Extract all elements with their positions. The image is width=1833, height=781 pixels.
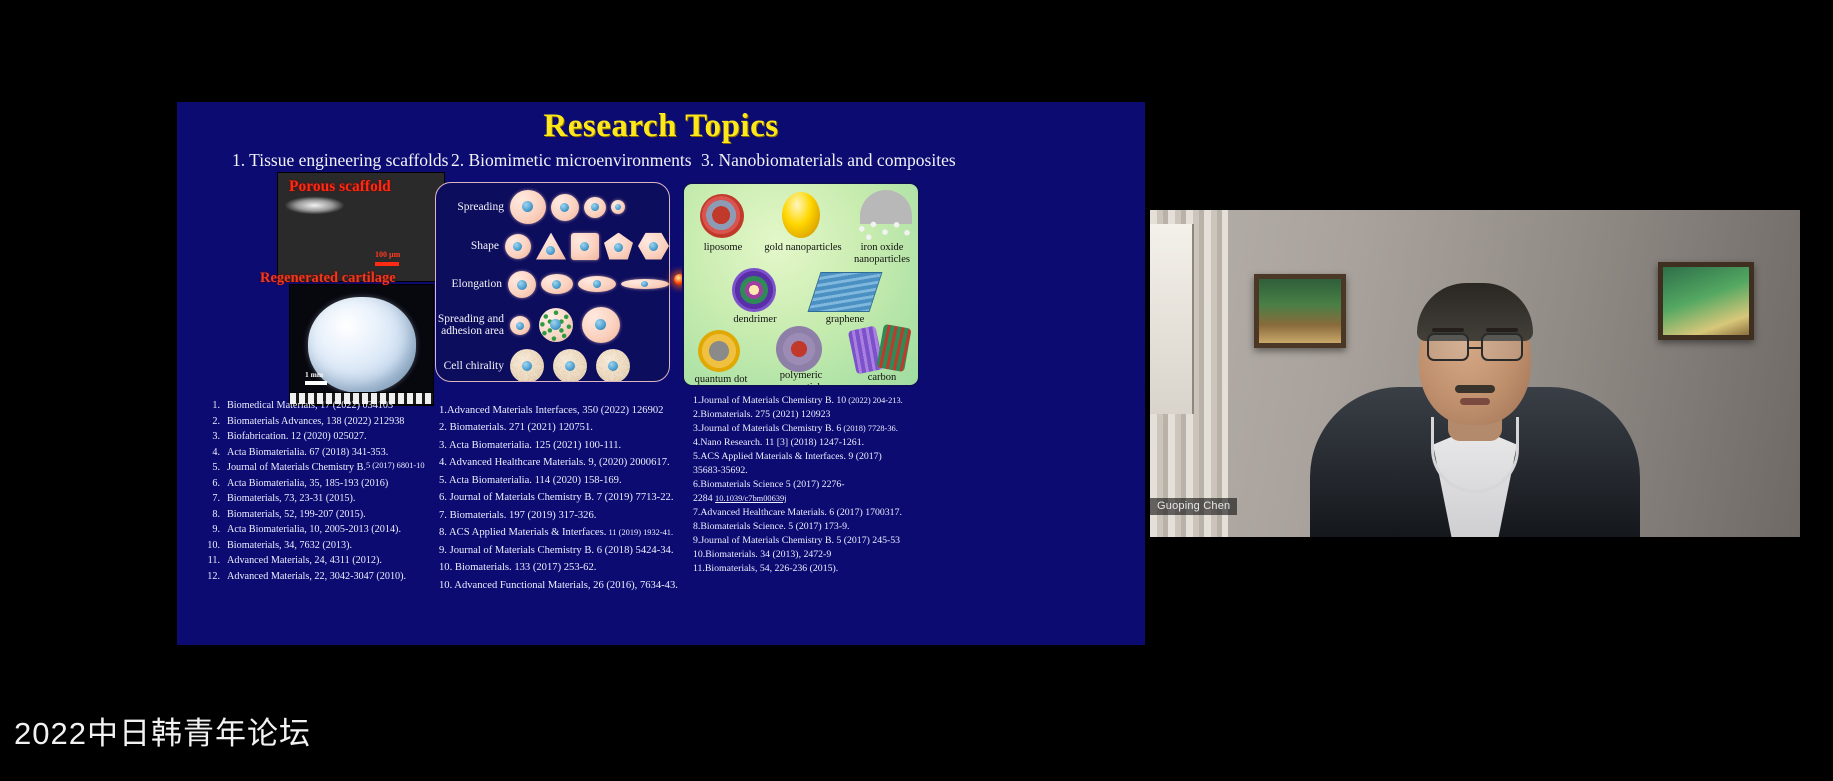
label-polymeric-nanoparticles: polymeric nanoparticles xyxy=(764,370,838,387)
label-liposome: liposome xyxy=(690,242,756,254)
reference-item: 8.Biomaterials, 52, 199-207 (2015). xyxy=(203,507,425,523)
reference-item: 8.Biomaterials Science. 5 (2017) 173-9. xyxy=(693,520,903,534)
porous-scaffold-label: Porous scaffold xyxy=(289,178,391,196)
wall-picture-left xyxy=(1254,274,1346,348)
reference-item: 7.Biomaterials, 73, 23-31 (2015). xyxy=(203,491,425,507)
participant-moustache xyxy=(1455,385,1495,393)
reference-item: 10. Advanced Functional Materials, 26 (2… xyxy=(439,577,678,594)
wall-picture-right xyxy=(1658,262,1754,340)
reference-item: 2284 10.1039/c7bm00639j xyxy=(693,492,903,506)
reference-item: 11.Advanced Materials, 24, 4311 (2012). xyxy=(203,553,425,569)
polymeric-nanoparticles-icon xyxy=(776,326,822,372)
reference-item: 35683-35692. xyxy=(693,464,903,478)
reference-item: 7. Biomaterials. 197 (2019) 317-326. xyxy=(439,507,678,524)
column-heading-scaffolds: 1. Tissue engineering scaffolds xyxy=(232,150,448,171)
liposome-icon xyxy=(700,194,744,238)
forum-caption: 2022中日韩青年论坛 xyxy=(14,708,311,753)
sem-scale-bar xyxy=(375,262,399,266)
label-carbon-nanotubes: carbon nanotubes xyxy=(846,372,918,387)
reference-item: 3.Journal of Materials Chemistry B. 6 (2… xyxy=(693,422,903,436)
reference-item: 6. Journal of Materials Chemistry B. 7 (… xyxy=(439,489,678,506)
reference-item: 3. Acta Biomaterialia. 125 (2021) 100-11… xyxy=(439,437,678,454)
reference-item: 10. Biomaterials. 133 (2017) 253-62. xyxy=(439,559,678,576)
row-label-shape: Shape xyxy=(436,240,505,252)
reference-list-column3: 1.Journal of Materials Chemistry B. 10 (… xyxy=(693,394,903,576)
sem-scale-label: 100 µm xyxy=(375,250,400,259)
reference-item: 6.Acta Biomaterialia, 35, 185-193 (2016) xyxy=(203,476,425,492)
page-title: Research Topics xyxy=(177,108,1145,145)
reference-item: 1.Biomedical Materials, 17 (2022) 034103 xyxy=(203,398,425,414)
reference-item: 7.Advanced Healthcare Materials. 6 (2017… xyxy=(693,506,903,520)
nanomaterials-panel: liposome gold nanoparticles iron oxide n… xyxy=(682,182,920,387)
glasses-lens-left xyxy=(1427,333,1469,361)
shared-slide[interactable]: Research Topics 1. Tissue engineering sc… xyxy=(177,102,1145,645)
regenerated-cartilage-label: Regenerated cartilage xyxy=(260,270,396,287)
cartilage-scale-label: 1 mm xyxy=(305,370,323,379)
reference-item: 4. Advanced Healthcare Materials. 9, (20… xyxy=(439,454,678,471)
window-frame xyxy=(1150,224,1194,414)
reference-item: 5. Acta Biomaterialia. 114 (2020) 158-16… xyxy=(439,472,678,489)
column-heading-nanobiomaterials: 3. Nanobiomaterials and composites xyxy=(701,150,956,171)
regenerated-cartilage-image xyxy=(289,284,434,406)
cartilage-blob xyxy=(308,297,416,393)
reference-item: 11.Biomaterials, 54, 226-236 (2015). xyxy=(693,562,903,576)
reference-item: 2.Biomaterials. 275 (2021) 120923 xyxy=(693,408,903,422)
reference-list-column2: 1.Advanced Materials Interfaces, 350 (20… xyxy=(439,402,678,594)
reference-item: 3.Biofabrication. 12 (2020) 025027. xyxy=(203,429,425,445)
reference-item: 5.ACS Applied Materials & Interfaces. 9 … xyxy=(693,450,903,464)
graphene-icon xyxy=(808,272,883,312)
reference-item: 9.Acta Biomaterialia, 10, 2005-2013 (201… xyxy=(203,522,425,538)
reference-item: 4.Nano Research. 11 [3] (2018) 1247-1261… xyxy=(693,436,903,450)
gold-nanoparticle-icon xyxy=(782,192,820,238)
reference-item: 1.Advanced Materials Interfaces, 350 (20… xyxy=(439,402,678,419)
reference-item: 8. ACS Applied Materials & Interfaces. 1… xyxy=(439,524,678,541)
participant-brow-right xyxy=(1486,328,1518,332)
iron-oxide-particles-icon xyxy=(856,220,914,242)
carbon-nanotubes-icon-2 xyxy=(876,324,911,372)
cartilage-scale-bar xyxy=(305,381,327,385)
label-quantum-dot: quantum dot xyxy=(686,374,756,386)
row-label-elongation: Elongation xyxy=(436,278,508,290)
biomimetic-microenvironment-panel: Spreading Shape Elongation xyxy=(435,182,670,382)
glasses-bridge xyxy=(1469,347,1481,350)
participant-mouth xyxy=(1460,398,1490,405)
label-graphene: graphene xyxy=(810,314,880,326)
reference-item: 10.Biomaterials, 34, 7632 (2013). xyxy=(203,538,425,554)
quantum-dot-icon xyxy=(698,330,740,372)
reference-item: 1.Journal of Materials Chemistry B. 10 (… xyxy=(693,394,903,408)
reference-item: 2. Biomaterials. 271 (2021) 120751. xyxy=(439,419,678,436)
glasses-lens-right xyxy=(1481,333,1523,361)
column-heading-biomimetic: 2. Biomimetic microenvironments xyxy=(451,150,692,171)
label-iron-oxide-nanoparticles: iron oxide nanoparticles xyxy=(844,242,920,265)
reference-item: 5.Journal of Materials Chemistry B. 5 (2… xyxy=(203,460,425,476)
reference-item: 4.Acta Biomaterialia. 67 (2018) 341-353. xyxy=(203,445,425,461)
reference-item: 6.Biomaterials Science 5 (2017) 2276- xyxy=(693,478,903,492)
iron-oxide-magnet-icon xyxy=(860,190,912,224)
reference-item: 12.Advanced Materials, 22, 3042-3047 (20… xyxy=(203,569,425,585)
reference-list-column1: 1.Biomedical Materials, 17 (2022) 034103… xyxy=(203,398,425,584)
row-label-spreading: Spreading xyxy=(436,201,510,213)
reference-item: 10.Biomaterials. 34 (2013), 2472-9 xyxy=(693,548,903,562)
participant-name-label: Guoping Chen xyxy=(1150,498,1237,515)
row-label-spreading-adhesion: Spreading and adhesion area xyxy=(436,313,510,337)
participant-video-tile[interactable]: Guoping Chen xyxy=(1150,210,1800,537)
participant-brow-left xyxy=(1432,328,1464,332)
dendrimer-icon xyxy=(732,268,776,312)
reference-item: 9.Journal of Materials Chemistry B. 5 (2… xyxy=(693,534,903,548)
reference-item: 2.Biomaterials Advances, 138 (2022) 2129… xyxy=(203,414,425,430)
row-label-cell-chirality: Cell chirality xyxy=(436,360,510,372)
reference-item: 9. Journal of Materials Chemistry B. 6 (… xyxy=(439,542,678,559)
label-dendrimer: dendrimer xyxy=(722,314,788,326)
label-gold-nanoparticles: gold nanoparticles xyxy=(764,242,842,254)
